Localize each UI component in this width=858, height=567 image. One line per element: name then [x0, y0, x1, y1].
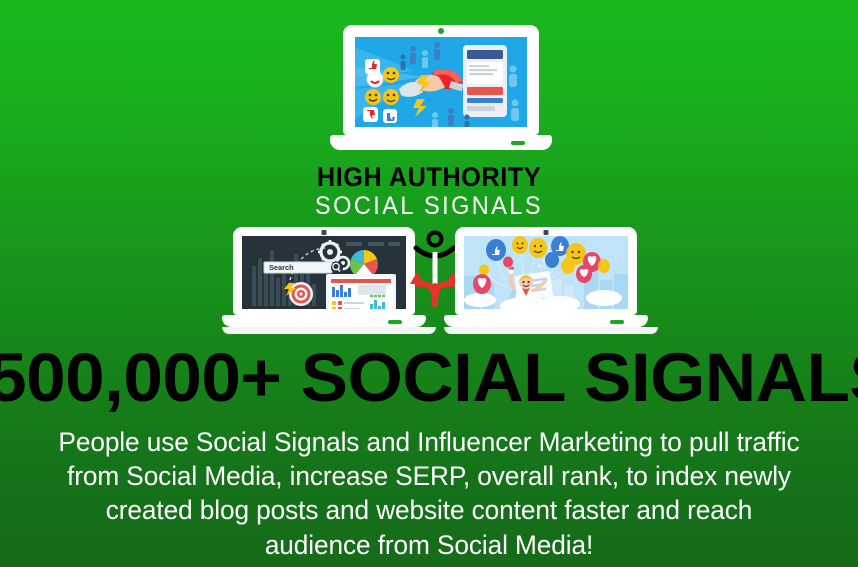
seo-analytics-dashboard-illustration: Search: [242, 236, 406, 309]
laptop-lid: [455, 227, 637, 315]
page-subtitle: SOCIAL SIGNALS: [26, 192, 833, 221]
webcam-icon: [544, 230, 549, 235]
social-reaction-balloons-illustration: [464, 236, 628, 309]
right-laptop-illustration: [444, 227, 648, 334]
laptop-foot: [222, 327, 436, 334]
promotional-poster: HIGH AUTHORITY SOCIAL SIGNALS: [0, 0, 858, 567]
webcam-icon: [438, 28, 444, 34]
body-line: created blog posts and website content f…: [22, 493, 836, 527]
headline: 500,000+ SOCIAL SIGNALS: [0, 343, 858, 412]
body-paragraph: People use Social Signals and Influencer…: [22, 425, 836, 562]
laptop-foot: [444, 327, 658, 334]
social-media-magnet-illustration: [355, 37, 527, 127]
laptop-screen: [464, 236, 628, 309]
laptop-base: [330, 135, 552, 150]
body-line: People use Social Signals and Influencer…: [22, 425, 836, 459]
body-line: audience from Social Media!: [22, 528, 836, 562]
laptop-base: [444, 315, 648, 327]
laptop-lid: [343, 25, 539, 135]
title-block: HIGH AUTHORITY SOCIAL SIGNALS: [0, 163, 858, 221]
body-line: from Social Media, increase SERP, overal…: [22, 459, 836, 493]
page-title: HIGH AUTHORITY: [26, 163, 833, 191]
laptop-screen: [355, 37, 527, 127]
left-laptop-illustration: Search: [222, 227, 426, 334]
svg-text:Search: Search: [269, 263, 294, 272]
webcam-icon: [322, 230, 327, 235]
laptop-screen: Search: [242, 236, 406, 309]
top-laptop-illustration: [330, 25, 552, 150]
laptop-lid: Search: [233, 227, 415, 315]
laptop-base: [222, 315, 426, 327]
